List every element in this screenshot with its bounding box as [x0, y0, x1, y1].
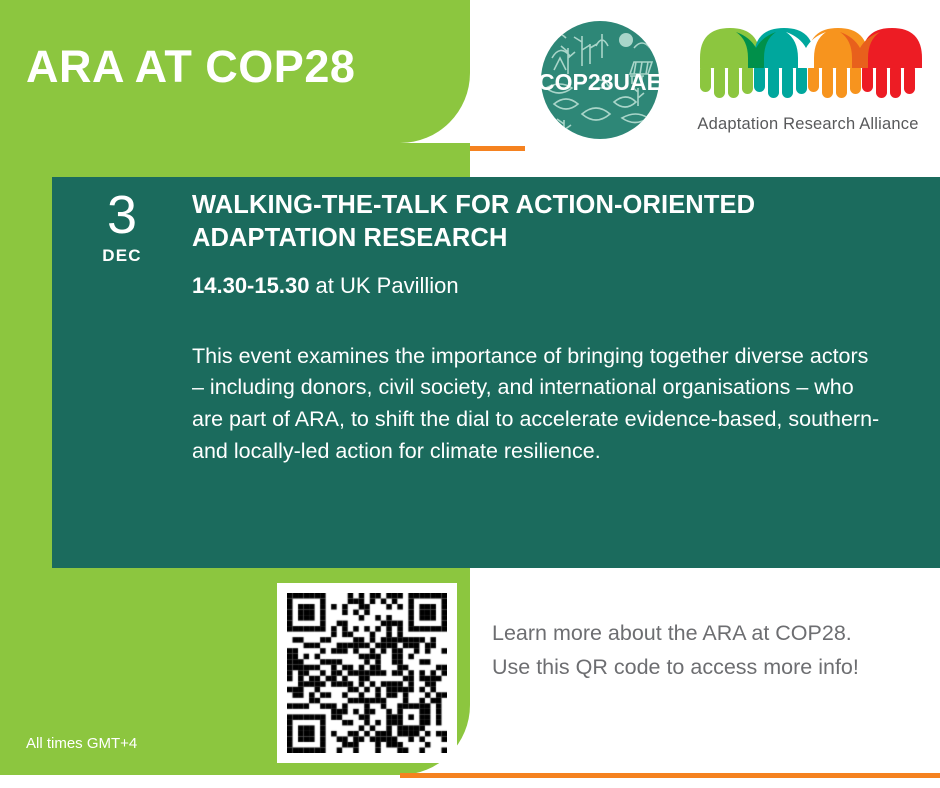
divider-bottom-orange	[400, 773, 940, 778]
adaptation-research-alliance-logo: Adaptation Research Alliance	[694, 22, 922, 134]
timezone-note: All times GMT+4	[26, 735, 137, 752]
poster: ARA AT COP28	[0, 0, 940, 788]
event-description: This event examines the importance of br…	[192, 341, 882, 467]
event-time: 14.30-15.30	[192, 273, 309, 298]
ara-logo-wordmark: Adaptation Research Alliance	[694, 115, 922, 134]
event-date: 3 DEC	[52, 177, 192, 568]
event-card: 3 DEC WALKING-THE-TALK FOR ACTION-ORIENT…	[52, 177, 940, 568]
event-location: at UK Pavillion	[309, 273, 458, 298]
ara-hands-icon	[694, 22, 922, 110]
event-title: WALKING-THE-TALK FOR ACTION-ORIENTED ADA…	[192, 189, 910, 254]
cop28uae-logo: COP28UAE	[538, 18, 662, 142]
event-time-location: 14.30-15.30 at UK Pavillion	[192, 272, 910, 301]
qr-code[interactable]	[277, 583, 457, 763]
cop28uae-logo-text: COP28UAE	[538, 69, 662, 95]
event-date-month: DEC	[52, 246, 192, 266]
qr-code-note: Learn more about the ARA at COP28. Use t…	[492, 617, 882, 685]
event-details: WALKING-THE-TALK FOR ACTION-ORIENTED ADA…	[192, 177, 940, 568]
page-title: ARA AT COP28	[26, 44, 355, 89]
event-date-day: 3	[52, 187, 192, 244]
qr-code-image	[287, 593, 447, 753]
